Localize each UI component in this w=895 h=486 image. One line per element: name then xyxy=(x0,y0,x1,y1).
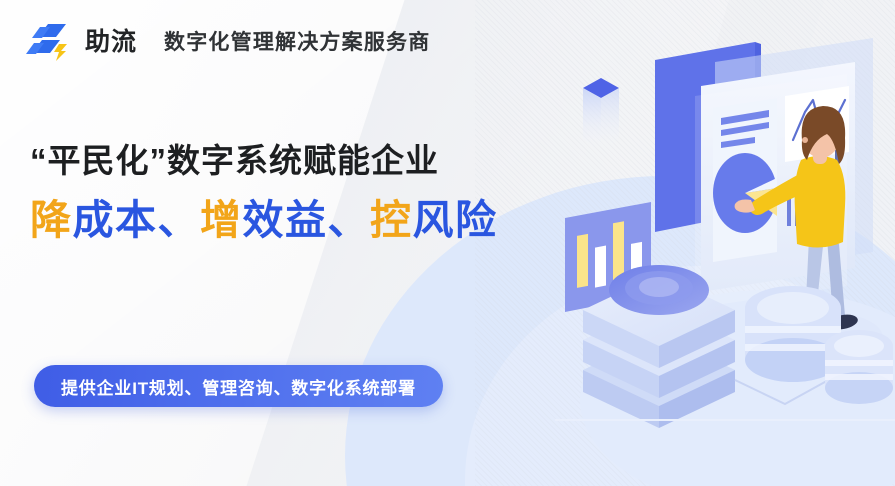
subline-part-0: 降 xyxy=(30,197,73,243)
subline-part-3: 效益、 xyxy=(243,197,371,243)
subline-part-4: 控 xyxy=(370,197,413,243)
subline-part-1: 成本、 xyxy=(73,197,201,243)
brand-header: 助流 数字化管理解决方案服务商 xyxy=(26,22,430,62)
brand-tagline: 数字化管理解决方案服务商 xyxy=(164,32,430,53)
subline-part-2: 增 xyxy=(200,197,243,243)
hero-subline: 降成本、增效益、控风险 xyxy=(30,195,498,245)
subline-part-5: 风险 xyxy=(413,197,498,243)
data-analytics-illustration xyxy=(555,0,895,486)
hero-banner: 助流 数字化管理解决方案服务商 “平民化”数字系统赋能企业 降成本、增效益、控风… xyxy=(0,0,895,486)
hero-copy: “平民化”数字系统赋能企业 降成本、增效益、控风险 xyxy=(30,140,498,245)
lightning-bolt-logo-icon xyxy=(26,22,72,62)
floating-cube-icon xyxy=(583,78,619,150)
brand-wordmark: 助流 xyxy=(85,30,137,55)
services-cta-button[interactable]: 提供企业IT规划、管理咨询、数字化系统部署 xyxy=(34,365,443,407)
hero-headline: “平民化”数字系统赋能企业 xyxy=(30,140,498,182)
